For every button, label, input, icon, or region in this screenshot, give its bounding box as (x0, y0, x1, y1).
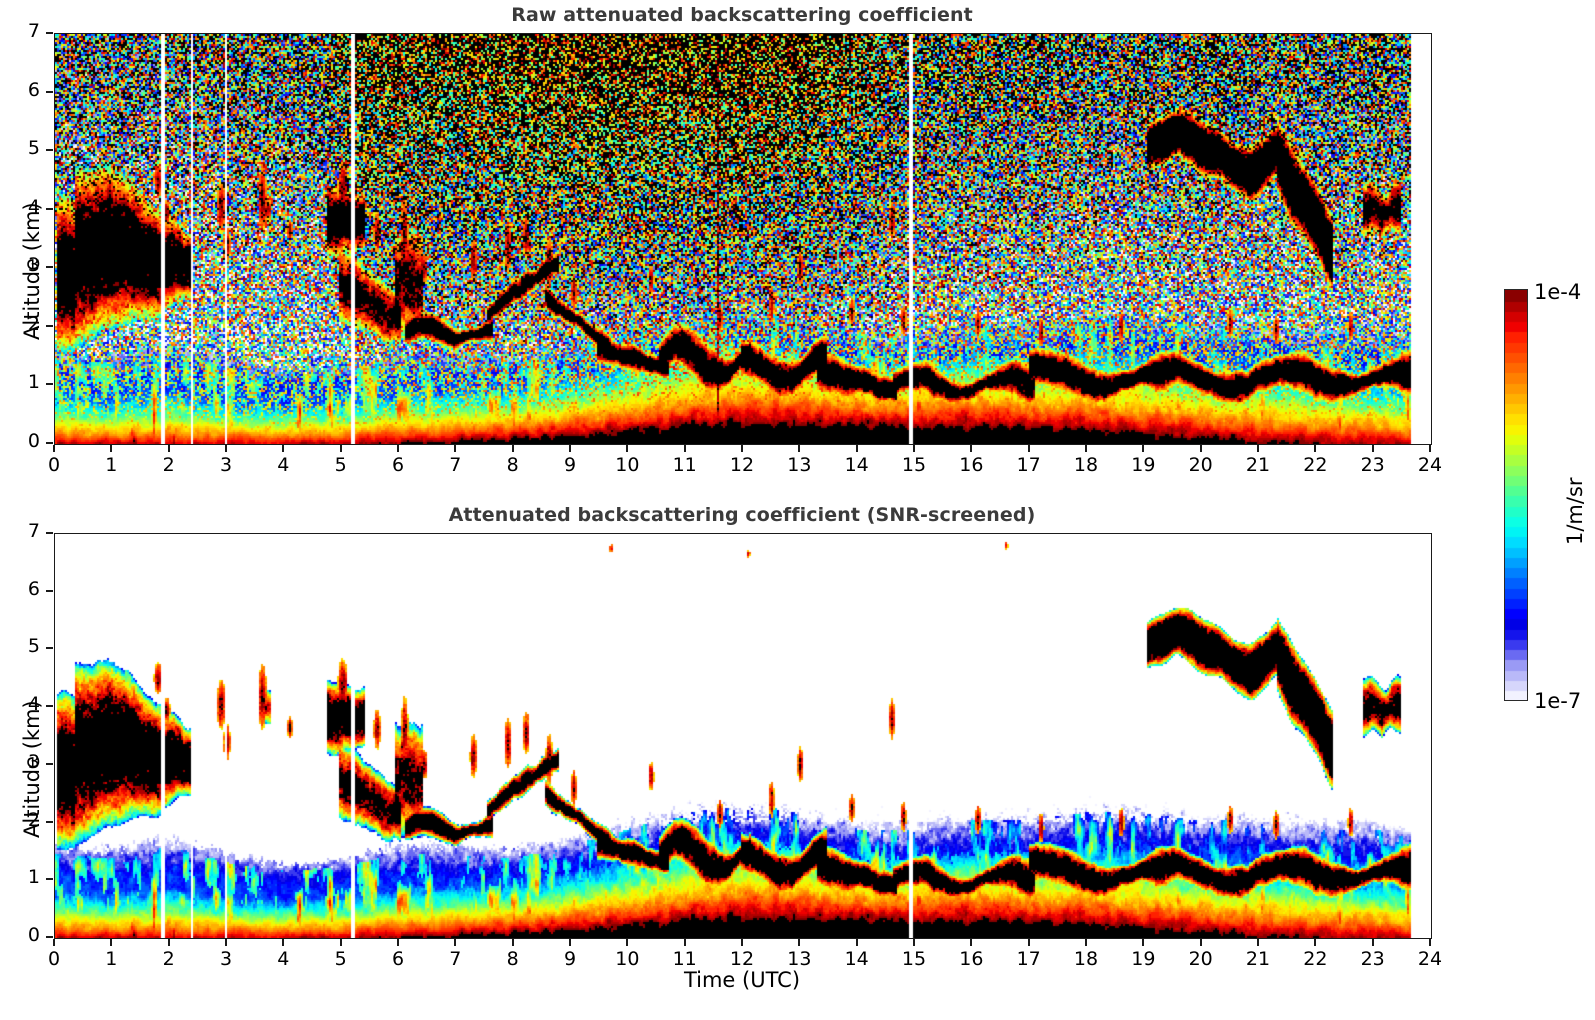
screened-x-tick-label: 21 (1233, 948, 1283, 970)
screened-x-tick-mark (512, 939, 514, 946)
screened-y-tick-label: 5 (0, 635, 40, 657)
raw-x-tick-mark (569, 445, 571, 452)
screened-x-tick-mark (741, 939, 743, 946)
screened-x-tick-label: 12 (717, 948, 767, 970)
screened-y-tick-mark (46, 821, 53, 823)
screened-x-tick-label: 5 (316, 948, 366, 970)
screened-x-tick-label: 4 (258, 948, 308, 970)
screened-x-tick-mark (53, 939, 55, 946)
raw-x-tick-mark (1372, 445, 1374, 452)
raw-x-tick-label: 19 (1118, 454, 1168, 476)
screened-x-tick-label: 17 (1004, 948, 1054, 970)
raw-x-tick-mark (512, 445, 514, 452)
screened-x-tick-label: 23 (1348, 948, 1398, 970)
raw-y-tick-mark (46, 442, 53, 444)
screened-x-tick-mark (454, 939, 456, 946)
screened-x-tick-mark (110, 939, 112, 946)
raw-x-tick-label: 7 (430, 454, 480, 476)
screened-x-tick-label: 18 (1061, 948, 1111, 970)
raw-x-tick-mark (1314, 445, 1316, 452)
screened-x-tick-mark (340, 939, 342, 946)
raw-plot-area[interactable] (54, 33, 1432, 445)
screened-x-tick-label: 16 (946, 948, 996, 970)
screened-heatmap-canvas (55, 534, 1431, 938)
screened-x-tick-mark (970, 939, 972, 946)
screened-xlabel: Time (UTC) (54, 968, 1430, 992)
screened-y-tick-label: 6 (0, 578, 40, 600)
screened-y-tick-mark (46, 590, 53, 592)
screened-x-tick-mark (856, 939, 858, 946)
raw-ylabel: Altitude (km) (20, 202, 44, 340)
raw-x-tick-label: 9 (545, 454, 595, 476)
raw-y-tick-mark (46, 32, 53, 34)
raw-x-tick-label: 2 (144, 454, 194, 476)
screened-y-tick-mark (46, 878, 53, 880)
screened-x-tick-mark (1257, 939, 1259, 946)
raw-x-tick-mark (110, 445, 112, 452)
screened-y-tick-label: 0 (0, 924, 40, 946)
figure-root: Raw attenuated backscattering coefficien… (0, 0, 1595, 1020)
raw-x-tick-label: 16 (946, 454, 996, 476)
raw-x-tick-mark (397, 445, 399, 452)
raw-x-tick-label: 1 (86, 454, 136, 476)
raw-x-tick-label: 23 (1348, 454, 1398, 476)
screened-x-tick-mark (913, 939, 915, 946)
screened-y-tick-mark (46, 763, 53, 765)
screened-plot-area[interactable] (54, 533, 1432, 939)
colorbar-max-label: 1e-4 (1534, 280, 1581, 304)
screened-x-tick-label: 20 (1176, 948, 1226, 970)
raw-x-tick-mark (970, 445, 972, 452)
panel-screened-title: Attenuated backscattering coefficient (S… (54, 504, 1430, 526)
screened-x-tick-mark (569, 939, 571, 946)
raw-x-tick-label: 20 (1176, 454, 1226, 476)
raw-x-tick-label: 18 (1061, 454, 1111, 476)
screened-x-tick-mark (798, 939, 800, 946)
raw-y-tick-label: 5 (0, 137, 40, 159)
raw-x-tick-mark (340, 445, 342, 452)
raw-x-tick-mark (168, 445, 170, 452)
screened-x-tick-label: 10 (602, 948, 652, 970)
raw-x-tick-mark (684, 445, 686, 452)
raw-x-tick-mark (798, 445, 800, 452)
raw-x-tick-mark (282, 445, 284, 452)
raw-x-tick-mark (1429, 445, 1431, 452)
screened-x-tick-label: 24 (1405, 948, 1455, 970)
screened-x-tick-mark (1314, 939, 1316, 946)
raw-x-tick-label: 15 (889, 454, 939, 476)
raw-x-tick-mark (913, 445, 915, 452)
raw-x-tick-mark (454, 445, 456, 452)
screened-y-tick-label: 1 (0, 866, 40, 888)
screened-x-tick-mark (1028, 939, 1030, 946)
screened-x-tick-mark (1429, 939, 1431, 946)
screened-x-tick-mark (1200, 939, 1202, 946)
raw-x-tick-mark (1085, 445, 1087, 452)
raw-y-tick-label: 0 (0, 430, 40, 452)
screened-x-tick-label: 1 (86, 948, 136, 970)
screened-y-tick-mark (46, 647, 53, 649)
screened-x-tick-label: 19 (1118, 948, 1168, 970)
raw-x-tick-label: 6 (373, 454, 423, 476)
raw-x-tick-label: 4 (258, 454, 308, 476)
raw-y-tick-mark (46, 208, 53, 210)
raw-y-tick-mark (46, 266, 53, 268)
panel-raw-title: Raw attenuated backscattering coefficien… (54, 4, 1430, 26)
raw-y-tick-label: 7 (0, 20, 40, 42)
raw-y-tick-mark (46, 91, 53, 93)
screened-x-tick-mark (225, 939, 227, 946)
raw-y-tick-label: 1 (0, 371, 40, 393)
colorbar-unit-label: 1/m/sr (1563, 477, 1587, 545)
screened-y-tick-mark (46, 705, 53, 707)
raw-x-tick-label: 10 (602, 454, 652, 476)
screened-x-tick-label: 0 (29, 948, 79, 970)
raw-x-tick-mark (856, 445, 858, 452)
raw-x-tick-label: 12 (717, 454, 767, 476)
raw-x-tick-label: 8 (488, 454, 538, 476)
raw-x-tick-label: 14 (832, 454, 882, 476)
raw-x-tick-label: 13 (774, 454, 824, 476)
screened-x-tick-mark (397, 939, 399, 946)
raw-x-tick-label: 24 (1405, 454, 1455, 476)
raw-x-tick-mark (53, 445, 55, 452)
raw-x-tick-mark (1257, 445, 1259, 452)
screened-x-tick-mark (626, 939, 628, 946)
screened-ylabel: Altitude (km) (20, 700, 44, 838)
raw-x-tick-mark (1028, 445, 1030, 452)
colorbar-min-label: 1e-7 (1534, 689, 1581, 713)
screened-x-tick-mark (1085, 939, 1087, 946)
screened-y-tick-mark (46, 532, 53, 534)
colorbar-gradient (1504, 289, 1528, 701)
raw-y-tick-label: 6 (0, 79, 40, 101)
colorbar-canvas (1505, 290, 1527, 700)
screened-x-tick-mark (168, 939, 170, 946)
raw-x-tick-label: 3 (201, 454, 251, 476)
screened-x-tick-mark (1142, 939, 1144, 946)
screened-x-tick-label: 6 (373, 948, 423, 970)
screened-x-tick-mark (282, 939, 284, 946)
screened-x-tick-label: 22 (1290, 948, 1340, 970)
raw-x-tick-mark (1200, 445, 1202, 452)
raw-x-tick-label: 0 (29, 454, 79, 476)
screened-x-tick-label: 13 (774, 948, 824, 970)
screened-x-tick-label: 3 (201, 948, 251, 970)
screened-x-tick-label: 8 (488, 948, 538, 970)
screened-y-tick-mark (46, 936, 53, 938)
screened-x-tick-mark (1372, 939, 1374, 946)
raw-y-tick-mark (46, 149, 53, 151)
raw-x-tick-mark (626, 445, 628, 452)
screened-x-tick-label: 11 (660, 948, 710, 970)
raw-x-tick-mark (1142, 445, 1144, 452)
screened-x-tick-label: 15 (889, 948, 939, 970)
raw-x-tick-label: 22 (1290, 454, 1340, 476)
screened-x-tick-mark (684, 939, 686, 946)
screened-y-tick-label: 7 (0, 520, 40, 542)
raw-x-tick-label: 5 (316, 454, 366, 476)
raw-x-tick-label: 21 (1233, 454, 1283, 476)
screened-x-tick-label: 9 (545, 948, 595, 970)
screened-x-tick-label: 7 (430, 948, 480, 970)
raw-x-tick-label: 17 (1004, 454, 1054, 476)
screened-x-tick-label: 14 (832, 948, 882, 970)
raw-x-tick-mark (741, 445, 743, 452)
raw-heatmap-canvas (55, 34, 1431, 444)
screened-x-tick-label: 2 (144, 948, 194, 970)
raw-x-tick-label: 11 (660, 454, 710, 476)
raw-y-tick-mark (46, 383, 53, 385)
raw-y-tick-mark (46, 325, 53, 327)
raw-x-tick-mark (225, 445, 227, 452)
